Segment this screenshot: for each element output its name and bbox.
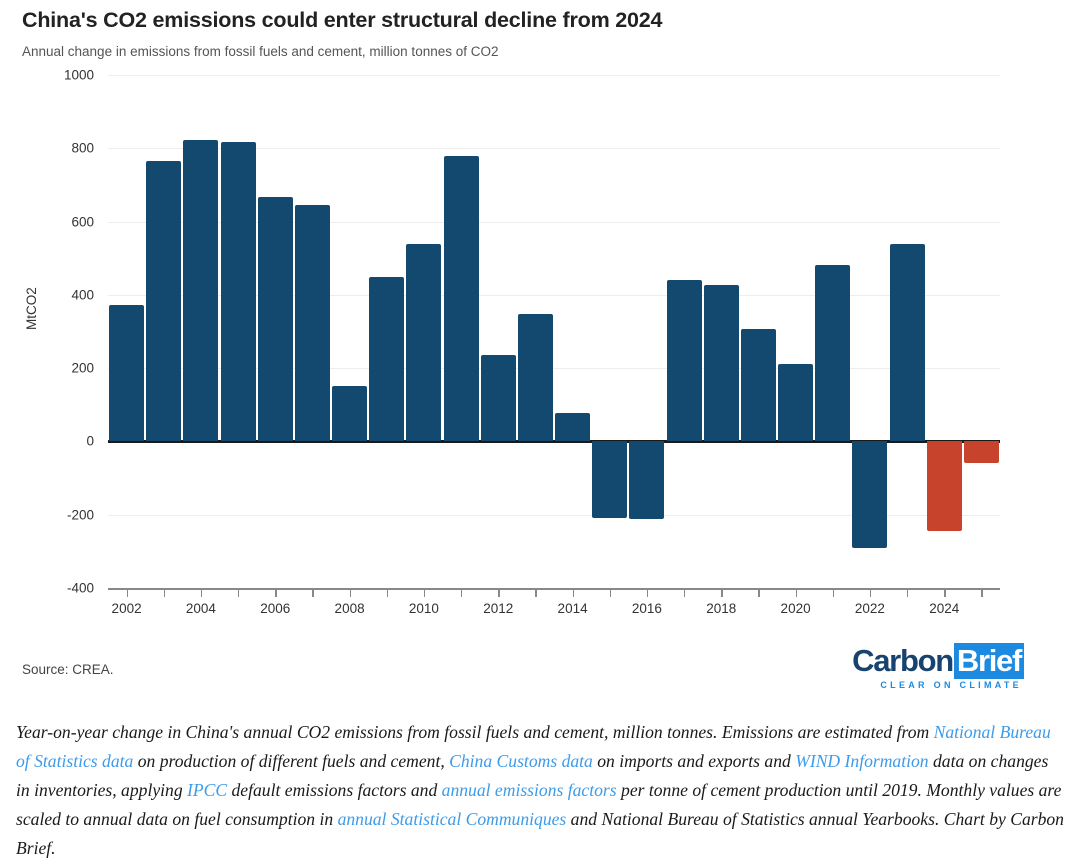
x-axis-tick-label: 2014 xyxy=(558,601,588,616)
x-axis-tick-label: 2018 xyxy=(706,601,736,616)
x-axis-tick xyxy=(758,588,759,597)
caption-text: default emissions factors and xyxy=(227,780,442,800)
plot-area: 10008006004002000-200-400 xyxy=(108,75,1000,588)
x-axis-tick xyxy=(684,588,685,597)
y-axis-tick-label: 1000 xyxy=(2,68,94,83)
x-axis-tick xyxy=(127,588,128,597)
chart-subtitle: Annual change in emissions from fossil f… xyxy=(22,44,499,59)
x-axis-tick-label: 2008 xyxy=(335,601,365,616)
x-axis-tick xyxy=(610,588,611,597)
y-axis-tick-label: 800 xyxy=(2,141,94,156)
x-axis-tick-label: 2002 xyxy=(112,601,142,616)
x-axis-tick-label: 2016 xyxy=(632,601,662,616)
x-axis-tick xyxy=(238,588,239,597)
x-axis-tick xyxy=(647,588,648,597)
y-axis-tick-label: 600 xyxy=(2,214,94,229)
x-axis-tick xyxy=(350,588,351,597)
bar-2017[interactable] xyxy=(667,280,702,441)
bar-2003[interactable] xyxy=(146,161,181,441)
bar-2011[interactable] xyxy=(444,156,479,442)
bar-2020[interactable] xyxy=(778,364,813,442)
bar-2002[interactable] xyxy=(109,305,144,441)
x-axis-tick xyxy=(907,588,908,597)
caption-link[interactable]: IPCC xyxy=(187,780,227,800)
x-axis-tick-label: 2010 xyxy=(409,601,439,616)
x-axis-tick xyxy=(870,588,871,597)
bar-2012[interactable] xyxy=(481,355,516,441)
caption-text: on imports and exports and xyxy=(593,751,795,771)
logo-brief-text: Brief xyxy=(954,643,1024,679)
bar-2010[interactable] xyxy=(406,244,441,442)
bar-2022[interactable] xyxy=(852,441,887,547)
bar-2024[interactable] xyxy=(927,441,962,531)
bar-2008[interactable] xyxy=(332,386,367,441)
caption-link[interactable]: annual emissions factors xyxy=(442,780,617,800)
y-axis-tick-label: -400 xyxy=(2,581,94,596)
bar-2005[interactable] xyxy=(221,142,256,442)
caption-link[interactable]: WIND Information xyxy=(795,751,928,771)
x-axis-tick-label: 2006 xyxy=(260,601,290,616)
caption-link[interactable]: China Customs data xyxy=(449,751,593,771)
bar-2018[interactable] xyxy=(704,285,739,442)
bar-2014[interactable] xyxy=(555,413,590,442)
bar-2004[interactable] xyxy=(183,140,218,441)
x-axis-tick xyxy=(387,588,388,597)
source-label: Source: CREA. xyxy=(22,662,114,677)
x-axis-tick-label: 2020 xyxy=(781,601,811,616)
x-axis-tick-label: 2012 xyxy=(483,601,513,616)
bar-2013[interactable] xyxy=(518,314,553,442)
x-axis-tick xyxy=(573,588,574,597)
y-axis-tick-label: -200 xyxy=(2,507,94,522)
carbonbrief-logo: CarbonBrief CLEAR ON CLIMATE xyxy=(852,645,1024,690)
caption-text: Year-on-year change in China's annual CO… xyxy=(16,722,934,742)
x-axis-tick xyxy=(312,588,313,597)
x-axis-tick xyxy=(275,588,276,597)
x-axis-tick xyxy=(721,588,722,597)
bar-2023[interactable] xyxy=(890,244,925,442)
x-axis-tick-label: 2024 xyxy=(929,601,959,616)
bar-2019[interactable] xyxy=(741,329,776,442)
logo-tagline: CLEAR ON CLIMATE xyxy=(852,680,1022,690)
x-axis-tick-label: 2022 xyxy=(855,601,885,616)
x-axis-tick xyxy=(981,588,982,597)
x-axis-tick xyxy=(461,588,462,597)
logo-wordmark: CarbonBrief xyxy=(852,645,1024,676)
bar-2016[interactable] xyxy=(629,441,664,519)
x-axis-tick xyxy=(424,588,425,597)
bar-2009[interactable] xyxy=(369,277,404,442)
x-axis-tick xyxy=(833,588,834,597)
x-axis-tick xyxy=(498,588,499,597)
bar-2006[interactable] xyxy=(258,197,293,442)
x-axis-line xyxy=(108,588,1000,590)
chart-caption: Year-on-year change in China's annual CO… xyxy=(16,718,1064,863)
bar-2007[interactable] xyxy=(295,205,330,441)
bar-2025[interactable] xyxy=(964,441,999,463)
y-axis-tick-label: 400 xyxy=(2,287,94,302)
gridline xyxy=(108,75,1000,76)
x-axis-tick xyxy=(535,588,536,597)
x-axis-tick xyxy=(201,588,202,597)
x-axis-tick xyxy=(944,588,945,597)
caption-text: on production of different fuels and cem… xyxy=(133,751,449,771)
x-axis-tick-label: 2004 xyxy=(186,601,216,616)
x-axis-tick xyxy=(164,588,165,597)
bar-2015[interactable] xyxy=(592,441,627,517)
page-title: China's CO2 emissions could enter struct… xyxy=(22,8,662,33)
x-axis-tick xyxy=(796,588,797,597)
y-axis-tick-label: 200 xyxy=(2,361,94,376)
bar-2021[interactable] xyxy=(815,265,850,442)
caption-link[interactable]: annual Statistical Communiques xyxy=(338,809,567,829)
y-axis-tick-label: 0 xyxy=(2,434,94,449)
logo-carbon-text: Carbon xyxy=(852,643,953,678)
